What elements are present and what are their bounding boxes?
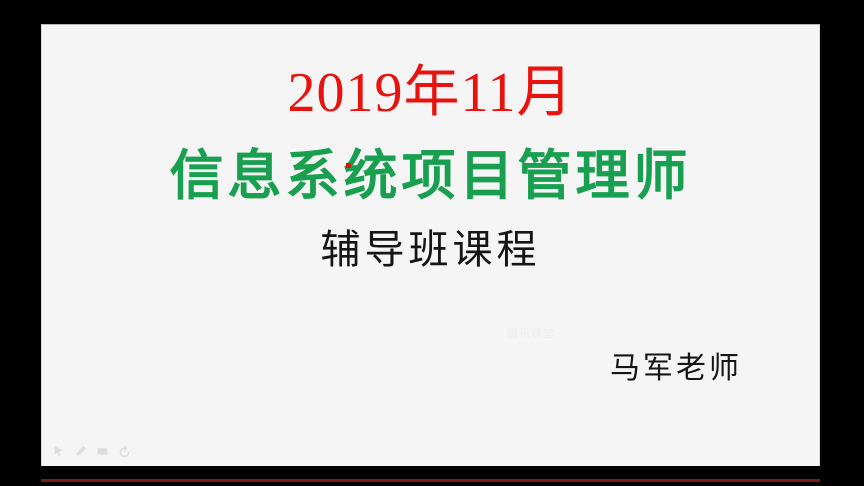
eraser-icon[interactable] (96, 445, 109, 458)
playback-progress-fill (41, 479, 820, 482)
playback-progress-bar[interactable] (41, 479, 820, 482)
slide-watermark: 腾讯课堂 (507, 325, 555, 341)
video-player-screen: 2019年11月 信息系统项目管理师 辅导班课程 腾讯课堂 马军老师 (0, 0, 864, 486)
slide-title-date: 2019年11月 (42, 65, 819, 121)
slide-subtitle: 辅导班课程 (42, 230, 819, 270)
slide-title-course: 信息系统项目管理师 (42, 149, 819, 203)
undo-icon[interactable] (118, 445, 131, 458)
pen-icon[interactable] (74, 445, 87, 458)
annotation-toolbar[interactable] (52, 445, 131, 458)
laser-pointer-dot (346, 163, 351, 168)
presentation-slide: 2019年11月 信息系统项目管理师 辅导班课程 腾讯课堂 马军老师 (41, 24, 820, 466)
slide-presenter-name: 马军老师 (42, 343, 742, 387)
pointer-icon[interactable] (52, 445, 65, 458)
